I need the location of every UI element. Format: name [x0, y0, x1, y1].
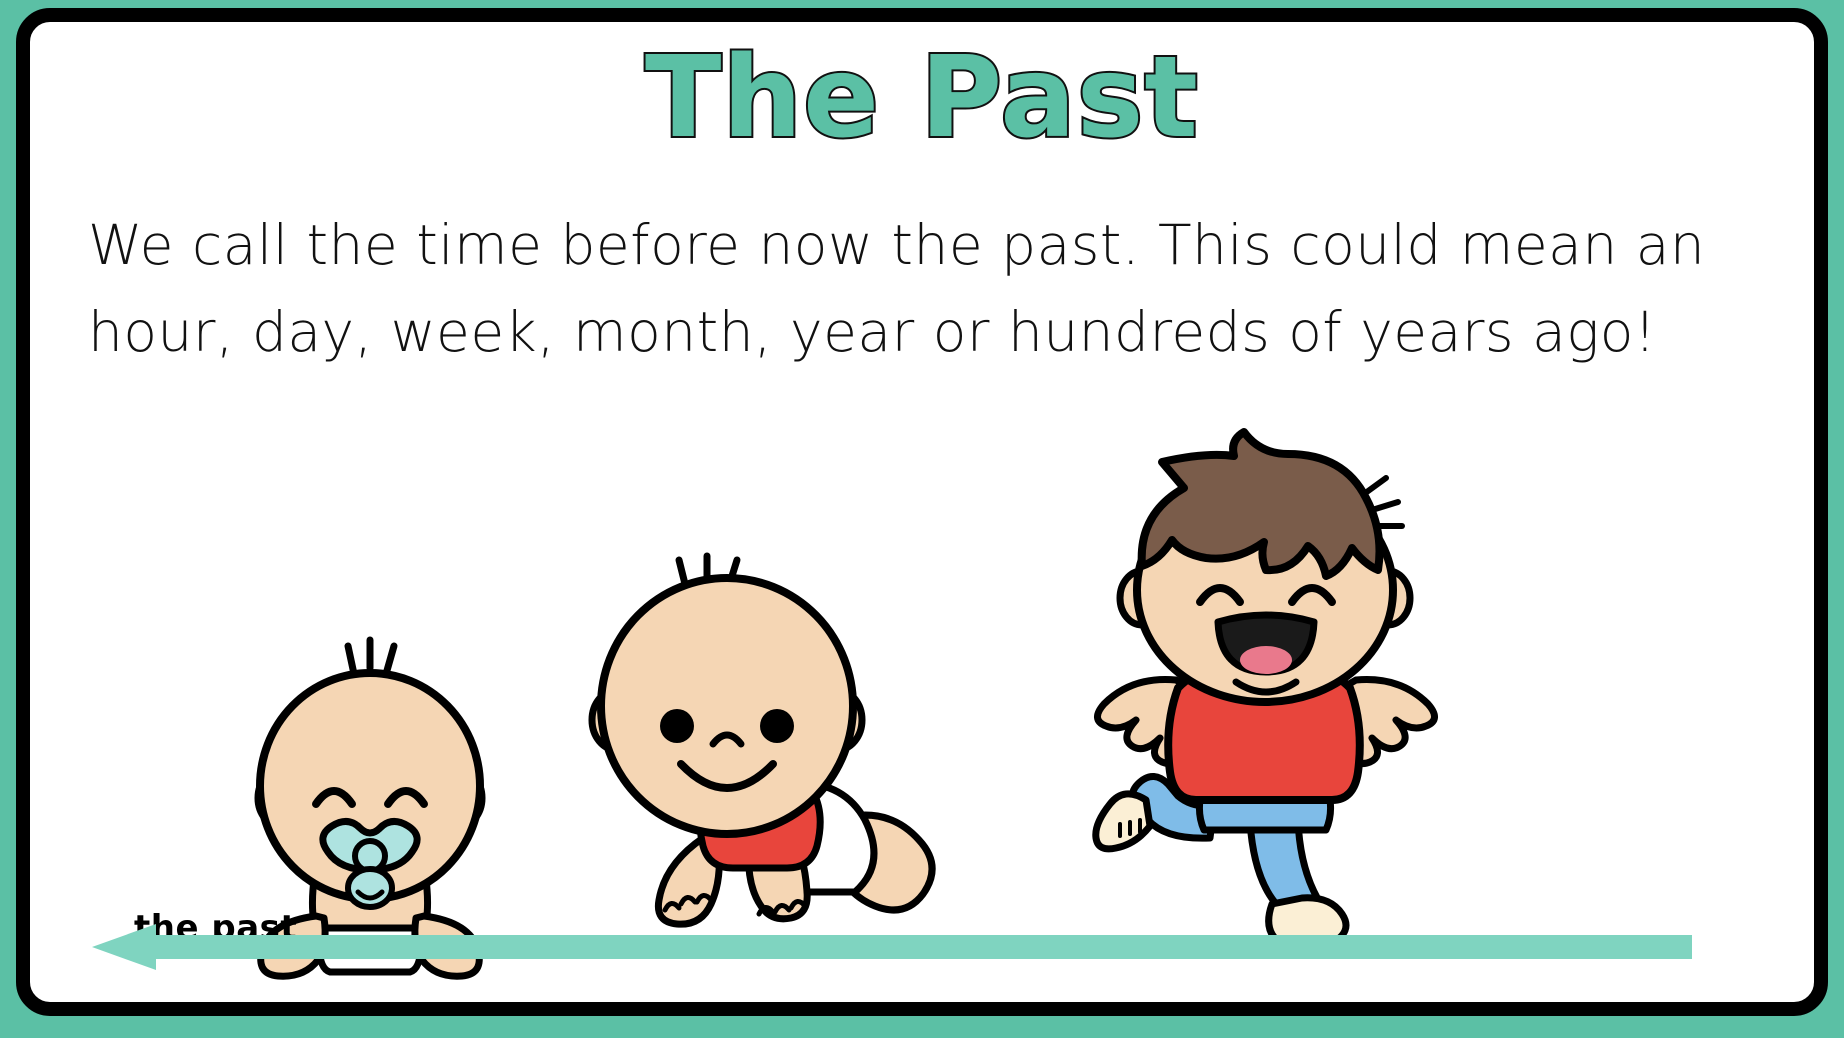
timeline: the past [92, 888, 1736, 984]
body-line-2: hour, day, week, month, year or hundreds… [88, 289, 1744, 376]
page-title: The Past [30, 40, 1814, 158]
slide-root: The Past We call the time before now the… [0, 0, 1844, 1038]
body-paragraph: We call the time before now the past. Th… [88, 202, 1744, 376]
body-line-1: We call the time before now the past. Th… [88, 202, 1744, 289]
timeline-arrow-left-icon [92, 924, 1692, 970]
slide-card: The Past We call the time before now the… [16, 8, 1828, 1016]
